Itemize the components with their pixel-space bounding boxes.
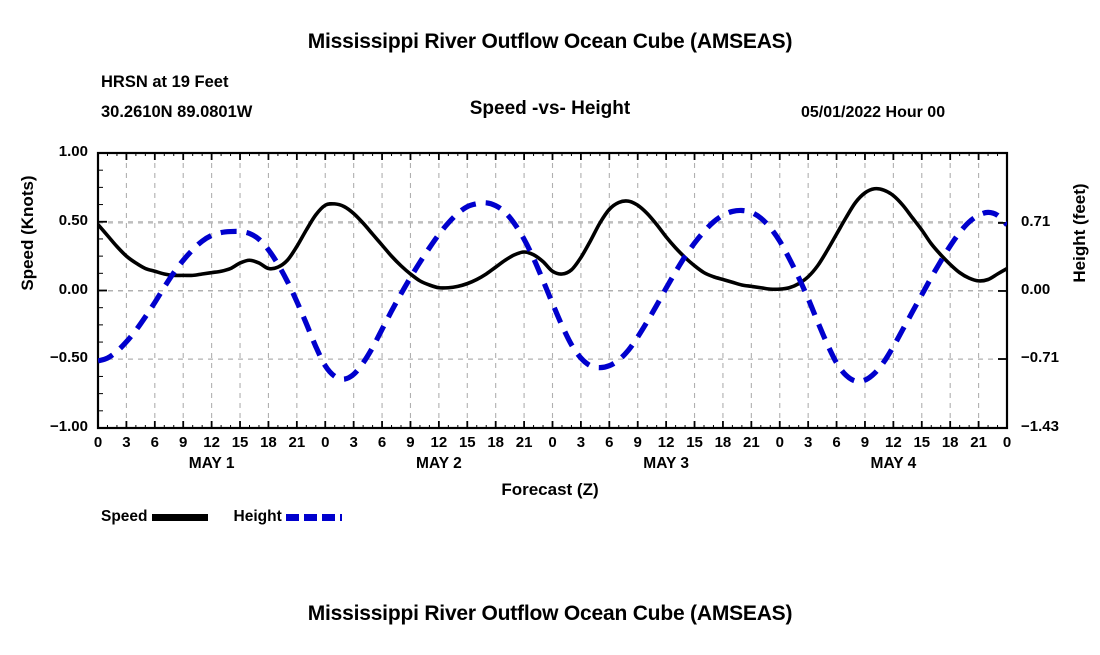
- gridlines: [98, 153, 1007, 428]
- x-axis-day-label: MAY 4: [833, 455, 953, 473]
- x-axis-tick-label: 6: [142, 434, 168, 451]
- x-axis-tick-label: 9: [397, 434, 423, 451]
- y-axis-left-tick-label: 1.00: [28, 143, 88, 160]
- x-axis-tick-label: 18: [710, 434, 736, 451]
- y-axis-right-tick-label: 0.00: [1021, 281, 1081, 298]
- page-title-bottom: Mississippi River Outflow Ocean Cube (AM…: [0, 602, 1100, 626]
- x-axis-tick-label: 3: [113, 434, 139, 451]
- x-axis-tick-label: 0: [312, 434, 338, 451]
- x-axis-tick-label: 9: [852, 434, 878, 451]
- x-axis-tick-label: 9: [625, 434, 651, 451]
- y-axis-right-tick-label: 0.71: [1021, 213, 1081, 230]
- chart-legend: SpeedHeight: [101, 508, 368, 526]
- y-axis-right-tick-label: −1.43: [1021, 418, 1081, 435]
- x-axis-tick-label: 0: [994, 434, 1020, 451]
- x-axis-tick-label: 6: [596, 434, 622, 451]
- y-axis-left-tick-label: −0.50: [28, 349, 88, 366]
- x-axis-tick-label: 9: [170, 434, 196, 451]
- chart-canvas: [0, 0, 1100, 650]
- chart-page: Mississippi River Outflow Ocean Cube (AM…: [0, 0, 1100, 650]
- legend-item-height: Height: [234, 508, 368, 526]
- x-axis-tick-label: 6: [824, 434, 850, 451]
- legend-item-speed: Speed: [101, 508, 234, 526]
- x-axis-day-label: MAY 3: [606, 455, 726, 473]
- x-axis-tick-label: 21: [738, 434, 764, 451]
- x-axis-tick-label: 6: [369, 434, 395, 451]
- x-axis-tick-label: 12: [880, 434, 906, 451]
- y-axis-left-tick-label: 0.50: [28, 212, 88, 229]
- x-axis-tick-label: 3: [568, 434, 594, 451]
- x-axis-tick-label: 21: [511, 434, 537, 451]
- x-axis-tick-label: 12: [426, 434, 452, 451]
- x-axis-tick-label: 15: [454, 434, 480, 451]
- legend-label: Height: [234, 508, 282, 526]
- y-axis-right-tick-label: −0.71: [1021, 349, 1081, 366]
- x-axis-tick-label: 0: [540, 434, 566, 451]
- y-axis-left-tick-label: 0.00: [28, 281, 88, 298]
- x-axis-tick-label: 12: [199, 434, 225, 451]
- x-axis-tick-label: 21: [966, 434, 992, 451]
- legend-swatch-solid: [152, 514, 208, 521]
- x-axis-day-label: MAY 1: [152, 455, 272, 473]
- x-axis-tick-label: 21: [284, 434, 310, 451]
- x-axis-tick-label: 18: [937, 434, 963, 451]
- x-axis-day-label: MAY 2: [379, 455, 499, 473]
- legend-swatch-dashed: [286, 514, 342, 521]
- x-axis-tick-label: 0: [767, 434, 793, 451]
- x-axis-tick-label: 18: [483, 434, 509, 451]
- x-axis-tick-label: 3: [795, 434, 821, 451]
- x-axis-tick-label: 15: [682, 434, 708, 451]
- y-axis-left-tick-label: −1.00: [28, 418, 88, 435]
- x-axis-tick-label: 15: [909, 434, 935, 451]
- x-axis-tick-label: 18: [255, 434, 281, 451]
- x-axis-tick-label: 15: [227, 434, 253, 451]
- x-axis-tick-label: 12: [653, 434, 679, 451]
- x-axis-title: Forecast (Z): [0, 480, 1100, 500]
- x-axis-tick-label: 0: [85, 434, 111, 451]
- legend-label: Speed: [101, 508, 148, 526]
- plot-area: [0, 0, 1100, 650]
- x-axis-tick-label: 3: [341, 434, 367, 451]
